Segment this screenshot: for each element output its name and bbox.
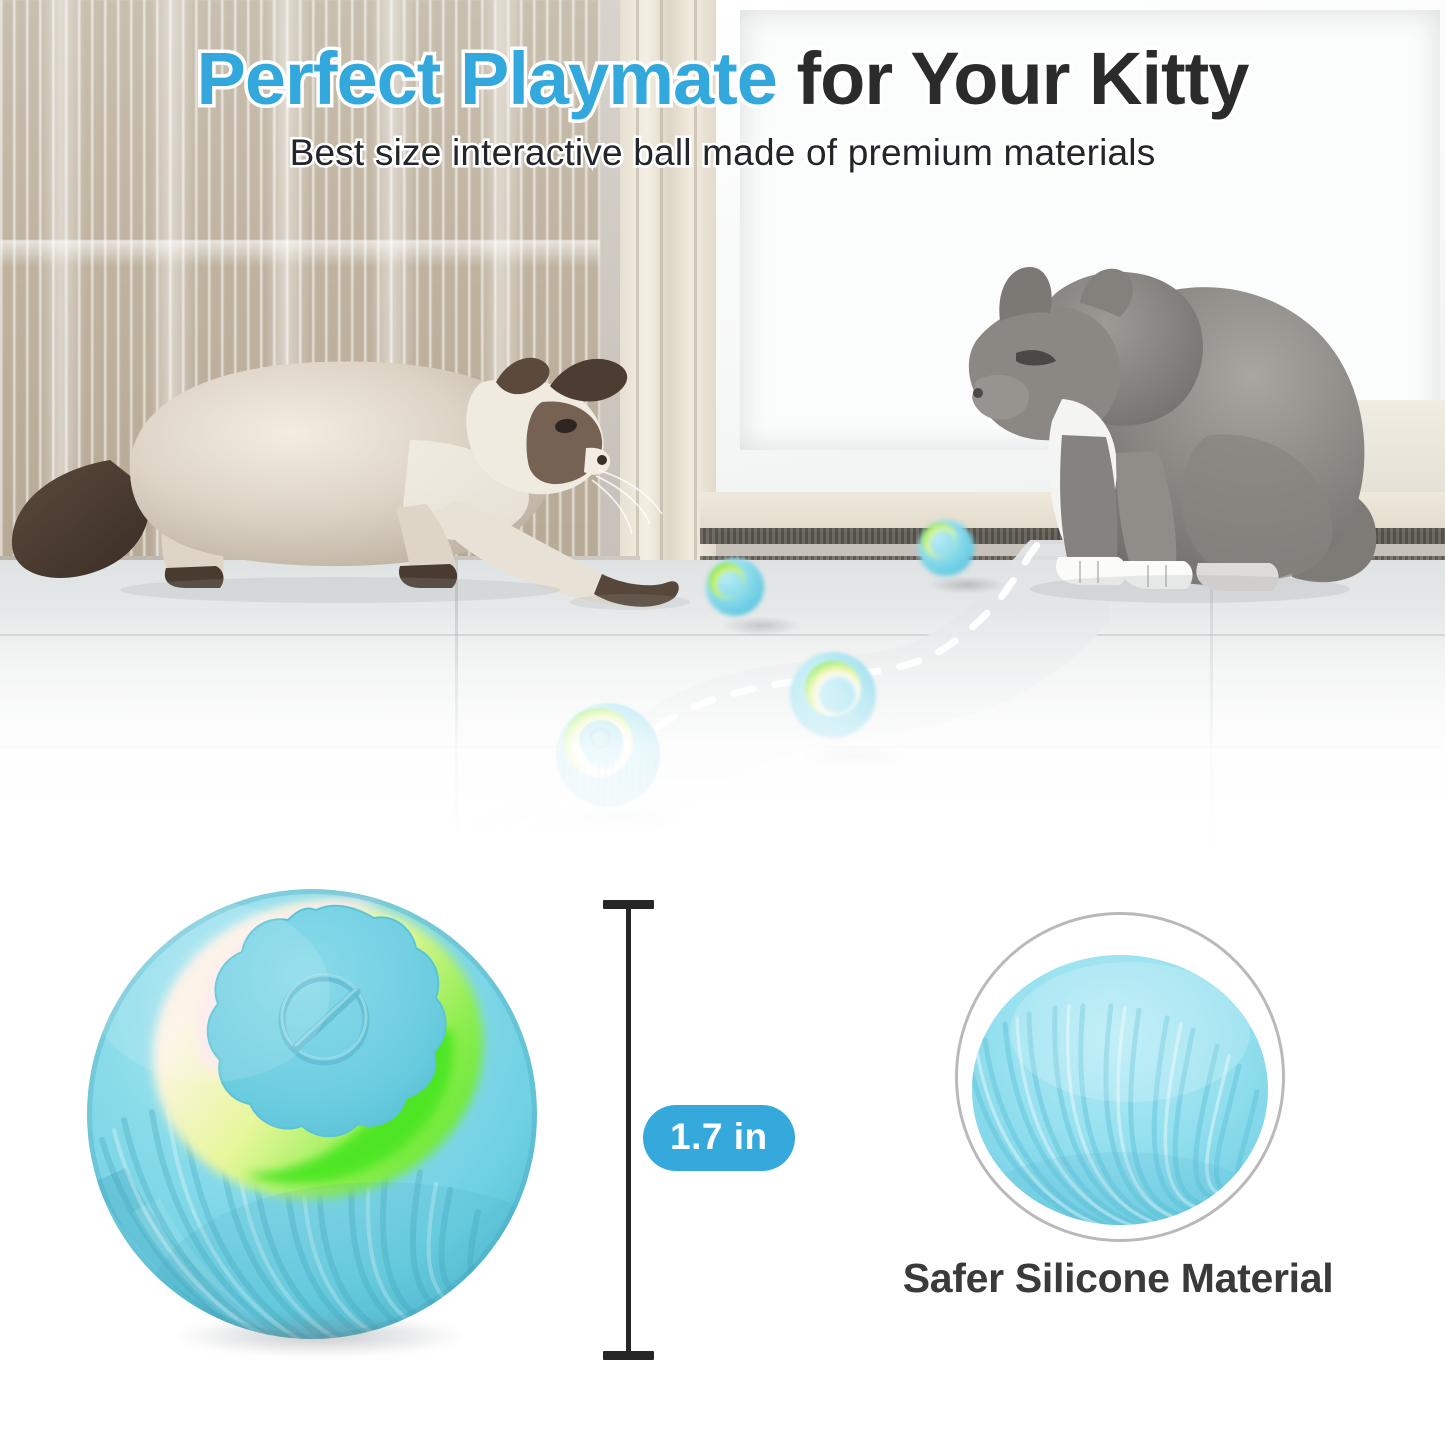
page-title: Perfect Playmate for Your Kitty [0, 42, 1445, 116]
hero-ball-graphic [80, 882, 550, 1362]
hero-ball-shadow [175, 1316, 465, 1356]
headline-dark: for Your Kitty [797, 37, 1249, 120]
dimension-stem [626, 906, 631, 1354]
product-poster: Perfect Playmate for Your Kitty Best siz… [0, 0, 1445, 1445]
dimension-cap-bottom [603, 1351, 654, 1360]
siamese-cat [0, 290, 690, 620]
dimension-badge: 1.7 in [643, 1105, 795, 1171]
silicone-closeup [955, 912, 1285, 1242]
ball-far-right [918, 520, 974, 576]
page-subtitle: Best size interactive ball made of premi… [0, 132, 1445, 174]
ball-shadow [928, 576, 1006, 594]
hero-product-ball [80, 882, 550, 1362]
product-detail-panel: 1.7 in [0, 860, 1445, 1445]
silicone-caption: Safer Silicone Material [838, 1255, 1398, 1302]
header-block: Perfect Playmate for Your Kitty Best siz… [0, 42, 1445, 174]
photo-fade [0, 610, 1445, 860]
headline-blue: Perfect Playmate [197, 37, 777, 120]
ball-far-left [706, 558, 764, 616]
silicone-surface [955, 912, 1285, 1242]
